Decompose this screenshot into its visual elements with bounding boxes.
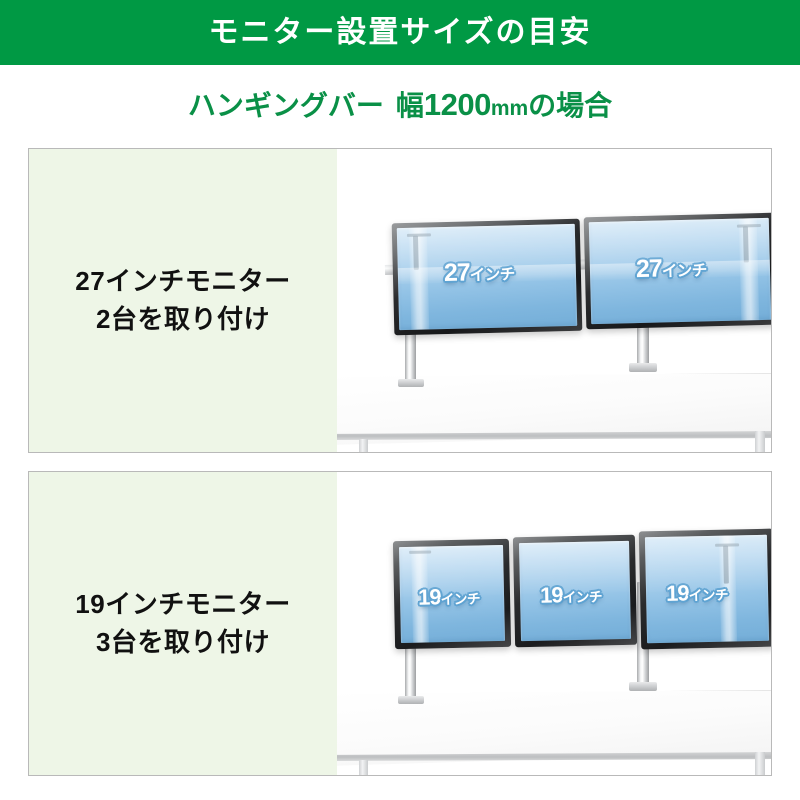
monitor-27-left-bracket-arm: [413, 236, 419, 270]
subtitle: ハンギングバー幅1200mmの場合: [0, 84, 800, 124]
monitor-19-right-size-unit: インチ: [688, 588, 728, 604]
monitor-19-left-size-label: 19インチ: [418, 585, 480, 608]
monitor-19-center-size-number: 19: [540, 582, 563, 607]
monitor-27-left-bracket-ghost: [407, 233, 431, 237]
monitor-27-left-size-unit: インチ: [470, 266, 515, 284]
monitor-27-left: 27インチ: [392, 219, 583, 336]
page-title: モニター設置サイズの目安: [208, 18, 591, 48]
monitor-19-right: 19インチ: [639, 529, 771, 650]
monitor-27-right: 27インチ: [584, 213, 771, 330]
monitor-19-left-size-unit: インチ: [440, 591, 480, 607]
desk-leg-left-19: [359, 760, 368, 775]
monitor-19-left-bracket-ghost: [409, 550, 431, 553]
panel-19-label-line1: 19インチモニター: [75, 586, 290, 624]
monitor-19-center-size-label: 19インチ: [540, 583, 602, 606]
subtitle-width-unit: mm: [491, 97, 528, 120]
panel-27-illustration: 27インチ 27インチ: [337, 149, 771, 452]
monitor-19-center: 19インチ: [513, 535, 637, 648]
monitor-27-left-screen: 27インチ: [397, 224, 577, 330]
monitor-19-center-screen: 19インチ: [519, 541, 631, 641]
monitor-27-right-size-label: 27インチ: [636, 255, 707, 282]
monitor-19-right-bracket-arm: [723, 546, 729, 584]
monitor-19-left-size-number: 19: [418, 584, 441, 609]
mount-pole-foot-left-19: [398, 696, 424, 704]
monitor-19-right-screen: 19インチ: [645, 535, 769, 644]
panel-19-inch: 19インチモニター 3台を取り付け 19インチ: [28, 471, 772, 776]
mount-pole-foot-right-19: [629, 682, 657, 691]
monitor-27-right-size-unit: インチ: [662, 262, 707, 280]
desk-leg-right-27: [755, 431, 765, 452]
monitor-27-right-size-number: 27: [636, 254, 662, 283]
mount-pole-foot-right-27: [629, 363, 657, 372]
monitor-27-right-bracket-arm: [743, 226, 749, 262]
panel-19-label-line2: 3台を取り付け: [96, 624, 270, 662]
subtitle-width-word: 幅: [396, 90, 424, 121]
subtitle-prefix: ハンギングバー: [188, 90, 384, 121]
panel-19-illustration: 19インチ 19インチ 19インチ: [337, 472, 771, 775]
monitor-27-right-bracket-ghost: [737, 224, 761, 228]
monitor-19-left-screen: 19インチ: [399, 545, 505, 643]
monitor-19-right-size-number: 19: [666, 580, 689, 605]
panel-27-inch: 27インチモニター 2台を取り付け 27インチ: [28, 148, 772, 453]
monitor-19-right-size-label: 19インチ: [666, 582, 728, 605]
monitor-27-left-size-label: 27インチ: [444, 259, 515, 286]
panel-27-label-line1: 27インチモニター: [75, 263, 290, 301]
monitor-27-right-screen: 27インチ: [589, 218, 771, 324]
monitor-19-left: 19インチ: [393, 539, 511, 649]
desk-leg-left-27: [359, 439, 368, 452]
panel-27-label-line2: 2台を取り付け: [96, 301, 270, 339]
monitor-27-left-size-number: 27: [444, 258, 470, 287]
monitor-19-center-size-unit: インチ: [562, 589, 602, 605]
desk-leg-right-19: [755, 752, 765, 775]
subtitle-suffix: の場合: [528, 90, 612, 121]
header-banner: モニター設置サイズの目安: [0, 0, 800, 65]
panel-19-label-area: 19インチモニター 3台を取り付け: [29, 472, 337, 775]
mount-pole-foot-left-27: [398, 379, 424, 387]
subtitle-width-value: 1200: [424, 87, 491, 122]
panel-27-label-area: 27インチモニター 2台を取り付け: [29, 149, 337, 452]
